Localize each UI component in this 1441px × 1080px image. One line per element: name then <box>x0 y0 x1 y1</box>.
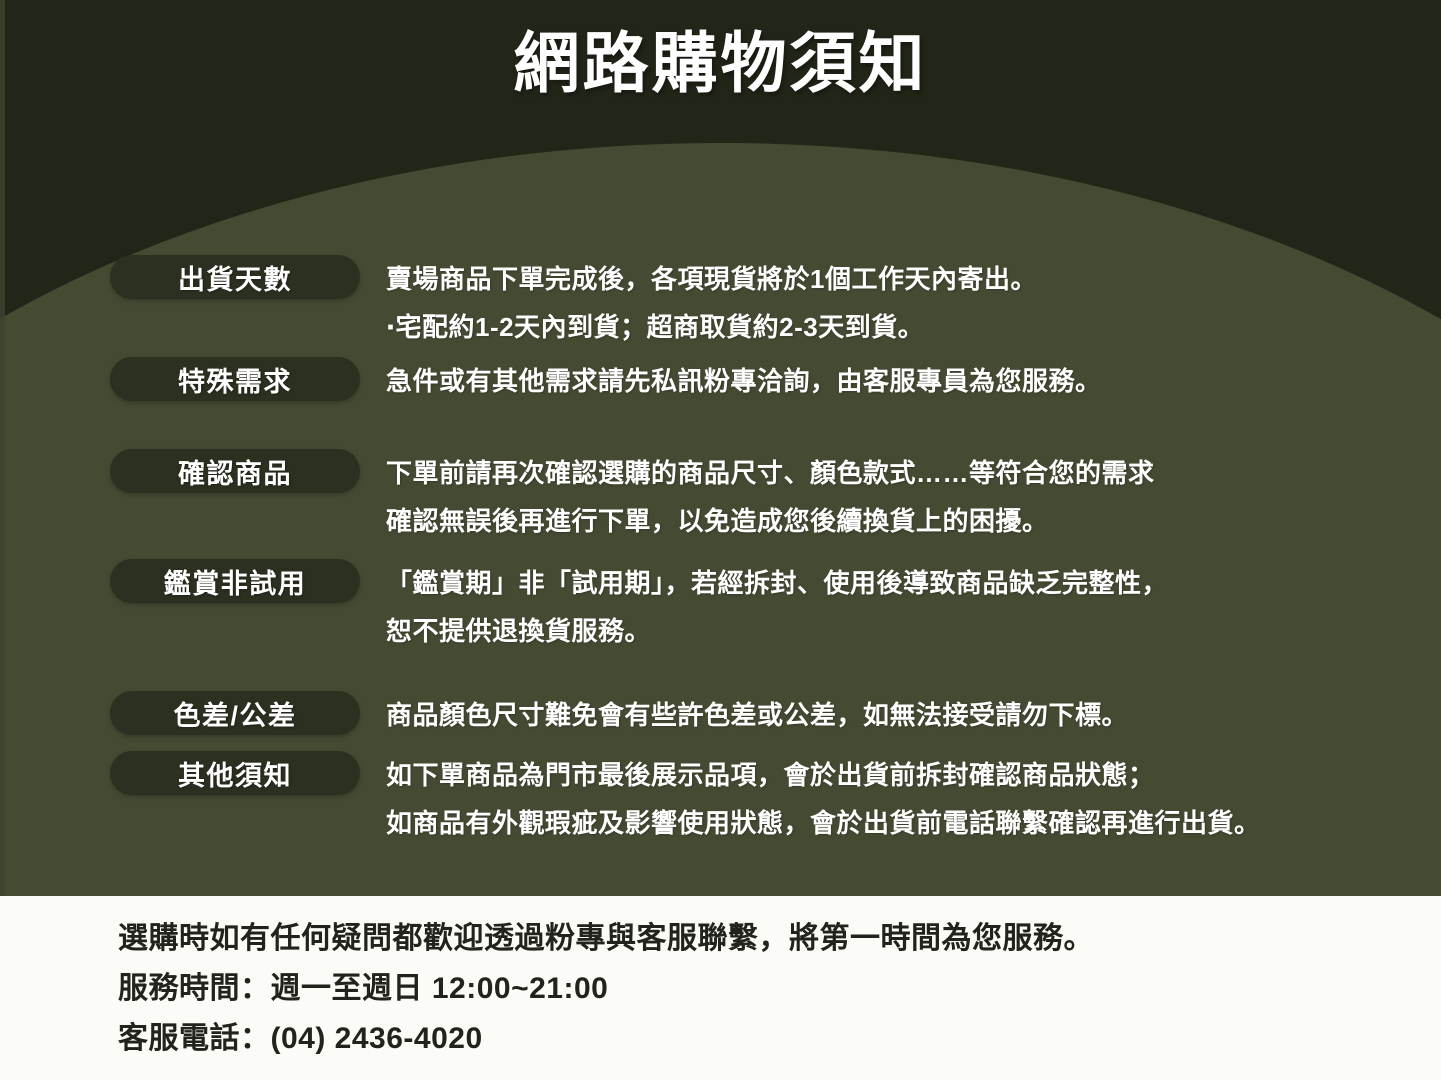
notice-row: 出貨天數 賣場商品下單完成後，各項現貨將於1個工作天內寄出。 ‧宅配約1-2天內… <box>110 255 1410 351</box>
notice-row: 色差/公差 商品顏色尺寸難免會有些許色差或公差，如無法接受請勿下標。 <box>110 691 1410 739</box>
notice-line: 確認無誤後再進行下單，以免造成您後續換貨上的困擾。 <box>386 497 1430 545</box>
page-title: 網路購物須知 <box>0 26 1441 102</box>
notice-line: ‧宅配約1-2天內到貨；超商取貨約2-3天到貨。 <box>386 303 1410 351</box>
notice-line: 「鑑賞期」非「試用期」，若經拆封、使用後導致商品缺乏完整性， <box>386 559 1430 607</box>
footer-line-service-intro: 選購時如有任何疑問都歡迎透過粉專與客服聯繫，將第一時間為您服務。 <box>118 914 1094 964</box>
notice-row: 確認商品 下單前請再次確認選購的商品尺寸、顏色款式……等符合您的需求 確認無誤後… <box>110 449 1430 545</box>
notice-line: 下單前請再次確認選購的商品尺寸、顏色款式……等符合您的需求 <box>386 449 1430 497</box>
footer-line-phone[interactable]: 客服電話：(04) 2436-4020 <box>118 1014 1094 1064</box>
notice-line: 賣場商品下單完成後，各項現貨將於1個工作天內寄出。 <box>386 255 1410 303</box>
notice-label-pill: 其他須知 <box>110 751 360 795</box>
left-edge-strip <box>0 0 5 896</box>
notice-body: 如下單商品為門市最後展示品項，會於出貨前拆封確認商品狀態； 如商品有外觀瑕疵及影… <box>386 751 1440 847</box>
contact-footer-text: 選購時如有任何疑問都歡迎透過粉專與客服聯繫，將第一時間為您服務。 服務時間：週一… <box>118 914 1094 1064</box>
notice-row: 其他須知 如下單商品為門市最後展示品項，會於出貨前拆封確認商品狀態； 如商品有外… <box>110 751 1440 847</box>
notice-body: 下單前請再次確認選購的商品尺寸、顏色款式……等符合您的需求 確認無誤後再進行下單… <box>386 449 1430 545</box>
notice-label-pill: 特殊需求 <box>110 357 360 401</box>
notice-line: 如下單商品為門市最後展示品項，會於出貨前拆封確認商品狀態； <box>386 751 1440 799</box>
notice-row: 鑑賞非試用 「鑑賞期」非「試用期」，若經拆封、使用後導致商品缺乏完整性， 恕不提… <box>110 559 1430 655</box>
notice-label-pill: 鑑賞非試用 <box>110 559 360 603</box>
contact-footer: 選購時如有任何疑問都歡迎透過粉專與客服聯繫，將第一時間為您服務。 服務時間：週一… <box>0 896 1441 1080</box>
notice-line: 商品顏色尺寸難免會有些許色差或公差，如無法接受請勿下標。 <box>386 691 1410 739</box>
notice-body: 急件或有其他需求請先私訊粉專洽詢，由客服專員為您服務。 <box>386 357 1410 405</box>
notice-label-pill: 色差/公差 <box>110 691 360 735</box>
notice-line: 恕不提供退換貨服務。 <box>386 607 1430 655</box>
notice-label-pill: 出貨天數 <box>110 255 360 299</box>
promo-graphic: 網路購物須知 出貨天數 賣場商品下單完成後，各項現貨將於1個工作天內寄出。 ‧宅… <box>0 0 1441 1080</box>
notice-line: 如商品有外觀瑕疵及影響使用狀態，會於出貨前電話聯繫確認再進行出貨。 <box>386 799 1440 847</box>
notice-line: 急件或有其他需求請先私訊粉專洽詢，由客服專員為您服務。 <box>386 357 1410 405</box>
notice-body: 賣場商品下單完成後，各項現貨將於1個工作天內寄出。 ‧宅配約1-2天內到貨；超商… <box>386 255 1410 351</box>
notice-body: 商品顏色尺寸難免會有些許色差或公差，如無法接受請勿下標。 <box>386 691 1410 739</box>
notice-label-pill: 確認商品 <box>110 449 360 493</box>
notice-body: 「鑑賞期」非「試用期」，若經拆封、使用後導致商品缺乏完整性， 恕不提供退換貨服務… <box>386 559 1430 655</box>
notice-row: 特殊需求 急件或有其他需求請先私訊粉專洽詢，由客服專員為您服務。 <box>110 357 1410 405</box>
footer-line-service-hours: 服務時間：週一至週日 12:00~21:00 <box>118 964 1094 1014</box>
